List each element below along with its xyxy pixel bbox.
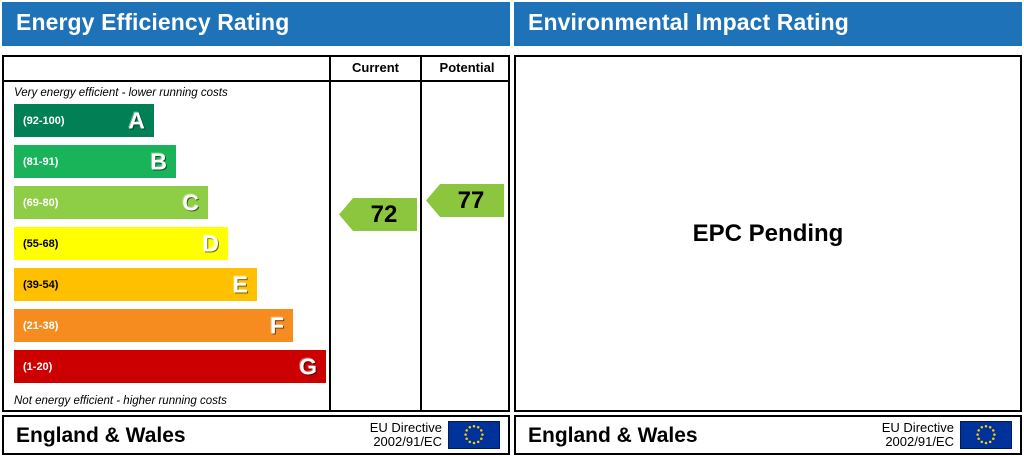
footer-directive-line1: EU Directive (370, 421, 442, 435)
band-range-c: (69-80) (23, 197, 58, 209)
footer-region-label-secondary: England & Wales (528, 424, 698, 448)
scale-caption-top: Very energy efficient - lower running co… (14, 87, 228, 99)
rating-band-f: (21-38)F (14, 309, 293, 342)
scale-caption-bottom: Not energy efficient - higher running co… (14, 395, 227, 407)
potential-rating-arrow: 77 (426, 184, 504, 217)
band-letter-f: F (270, 314, 284, 337)
band-range-b: (81-91) (23, 156, 58, 168)
band-range-e: (39-54) (23, 279, 58, 291)
footer-directive-line1-secondary: EU Directive (882, 421, 954, 435)
epc-rating-graphic: Energy Efficiency Rating Current Potenti… (0, 0, 1024, 457)
rating-bands: (92-100)A(81-91)B(69-80)C(55-68)D(39-54)… (4, 104, 329, 392)
energy-efficiency-chart: Current Potential Very energy efficient … (2, 55, 510, 412)
footer-directive-line2: 2002/91/EC (370, 435, 442, 449)
eu-flag-icon-secondary (960, 421, 1012, 449)
band-letter-a: A (128, 109, 145, 132)
current-rating-arrow: 72 (339, 198, 417, 231)
page-title: Energy Efficiency Rating (16, 9, 289, 36)
environmental-impact-footer: England & Wales EU Directive 2002/91/EC (514, 415, 1022, 455)
band-letter-g: G (299, 355, 317, 378)
eu-flag-icon (448, 421, 500, 449)
potential-rating-value: 77 (446, 189, 485, 213)
energy-efficiency-header: Energy Efficiency Rating (2, 2, 510, 46)
environmental-impact-chart: EPC Pending (514, 55, 1022, 412)
column-header-current: Current (331, 60, 420, 75)
band-range-d: (55-68) (23, 238, 58, 250)
column-divider-potential (420, 57, 422, 410)
footer-directive-line2-secondary: 2002/91/EC (882, 435, 954, 449)
column-divider-current (329, 57, 331, 410)
rating-band-a: (92-100)A (14, 104, 154, 137)
footer-region-label: England & Wales (16, 424, 186, 448)
column-header-potential: Potential (422, 60, 512, 75)
band-range-g: (1-20) (23, 361, 52, 373)
page-title-secondary: Environmental Impact Rating (528, 9, 849, 36)
epc-pending-message: EPC Pending (516, 57, 1020, 410)
rating-band-e: (39-54)E (14, 268, 257, 301)
band-letter-b: B (150, 150, 167, 173)
environmental-impact-header: Environmental Impact Rating (514, 2, 1022, 46)
rating-band-g: (1-20)G (14, 350, 326, 383)
footer-directive-secondary: EU Directive 2002/91/EC (882, 421, 954, 449)
rating-band-d: (55-68)D (14, 227, 228, 260)
footer-directive: EU Directive 2002/91/EC (370, 421, 442, 449)
current-rating-value: 72 (359, 203, 398, 227)
energy-efficiency-panel: Energy Efficiency Rating Current Potenti… (0, 0, 512, 457)
band-range-a: (92-100) (23, 115, 65, 127)
environmental-impact-panel: Environmental Impact Rating EPC Pending … (512, 0, 1024, 457)
rating-band-c: (69-80)C (14, 186, 208, 219)
band-letter-e: E (233, 273, 248, 296)
band-range-f: (21-38) (23, 320, 58, 332)
band-letter-c: C (182, 191, 199, 214)
energy-efficiency-footer: England & Wales EU Directive 2002/91/EC (2, 415, 510, 455)
band-letter-d: D (202, 232, 219, 255)
rating-band-b: (81-91)B (14, 145, 176, 178)
